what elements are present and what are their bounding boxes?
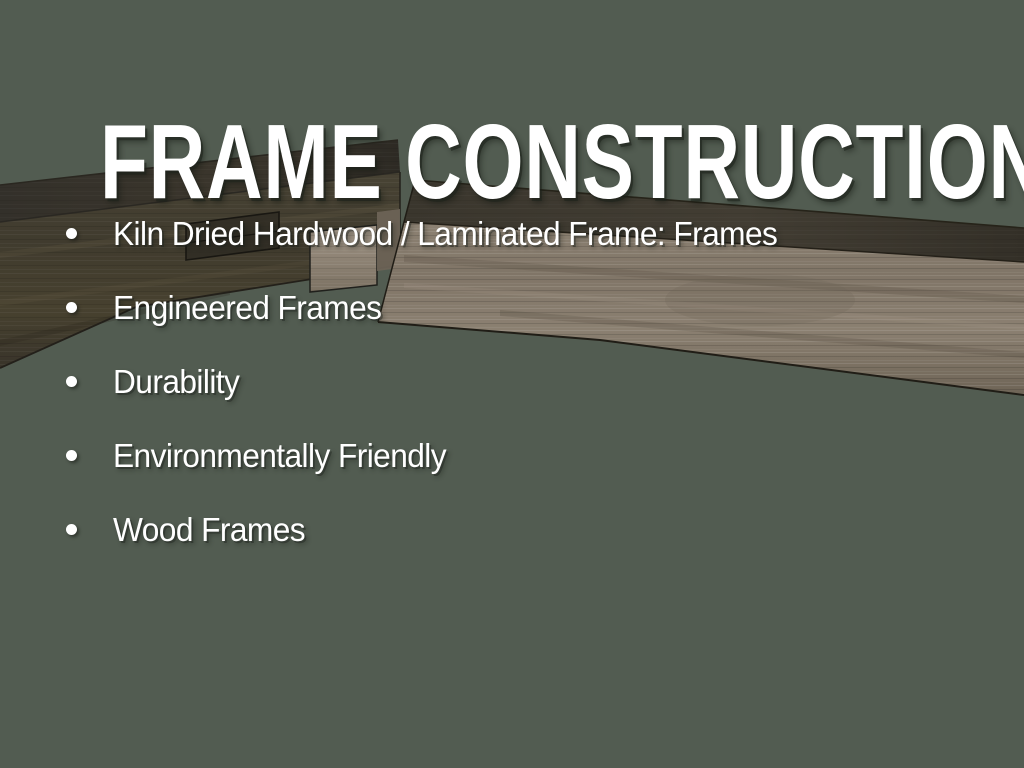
list-item: Engineered Frames bbox=[52, 270, 1012, 344]
list-item: Kiln Dried Hardwood / Laminated Frame: F… bbox=[52, 196, 1012, 270]
bullet-dot-icon bbox=[66, 450, 77, 461]
bullet-list: Kiln Dried Hardwood / Laminated Frame: F… bbox=[52, 196, 1012, 566]
bullet-text: Engineered Frames bbox=[113, 291, 381, 324]
bullet-dot-icon bbox=[66, 302, 77, 313]
bullet-dot-icon bbox=[66, 524, 77, 535]
bullet-text: Kiln Dried Hardwood / Laminated Frame: F… bbox=[113, 217, 777, 250]
bullet-text: Durability bbox=[113, 365, 239, 398]
bullet-text: Wood Frames bbox=[113, 513, 305, 546]
bullet-dot-icon bbox=[66, 228, 77, 239]
list-item: Environmentally Friendly bbox=[52, 418, 1012, 492]
bullet-dot-icon bbox=[66, 376, 77, 387]
presentation-slide: FRAME CONSTRUCTION Kiln Dried Hardwood /… bbox=[0, 0, 1024, 768]
bullet-text: Environmentally Friendly bbox=[113, 439, 446, 472]
list-item: Wood Frames bbox=[52, 492, 1012, 566]
list-item: Durability bbox=[52, 344, 1012, 418]
